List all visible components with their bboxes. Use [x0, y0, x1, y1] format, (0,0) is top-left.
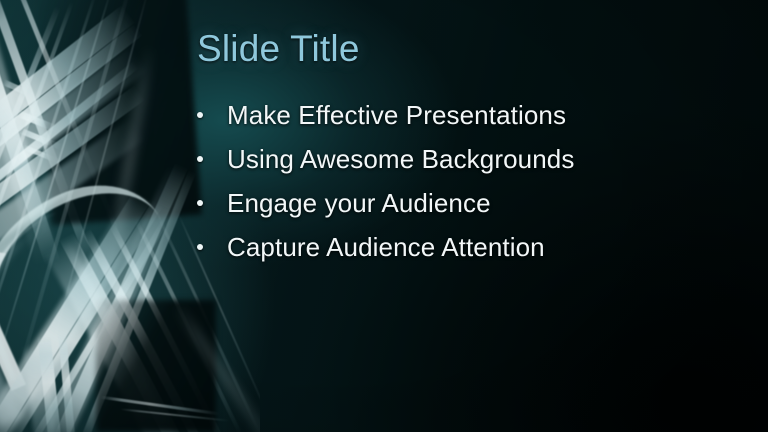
bullet-dot-icon — [197, 156, 203, 162]
list-item-label: Using Awesome Backgrounds — [227, 144, 574, 175]
list-item: Using Awesome Backgrounds — [197, 137, 717, 181]
list-item-label: Make Effective Presentations — [227, 100, 566, 131]
bullet-list: Make Effective Presentations Using Aweso… — [197, 93, 717, 269]
bullet-dot-icon — [197, 112, 203, 118]
list-item-label: Engage your Audience — [227, 188, 491, 219]
list-item: Engage your Audience — [197, 181, 717, 225]
presentation-slide: Slide Title Make Effective Presentations… — [0, 0, 768, 432]
bullet-dot-icon — [197, 200, 203, 206]
list-item: Capture Audience Attention — [197, 225, 717, 269]
list-item-label: Capture Audience Attention — [227, 232, 545, 263]
list-item: Make Effective Presentations — [197, 93, 717, 137]
bullet-dot-icon — [197, 244, 203, 250]
page-title: Slide Title — [197, 28, 360, 70]
